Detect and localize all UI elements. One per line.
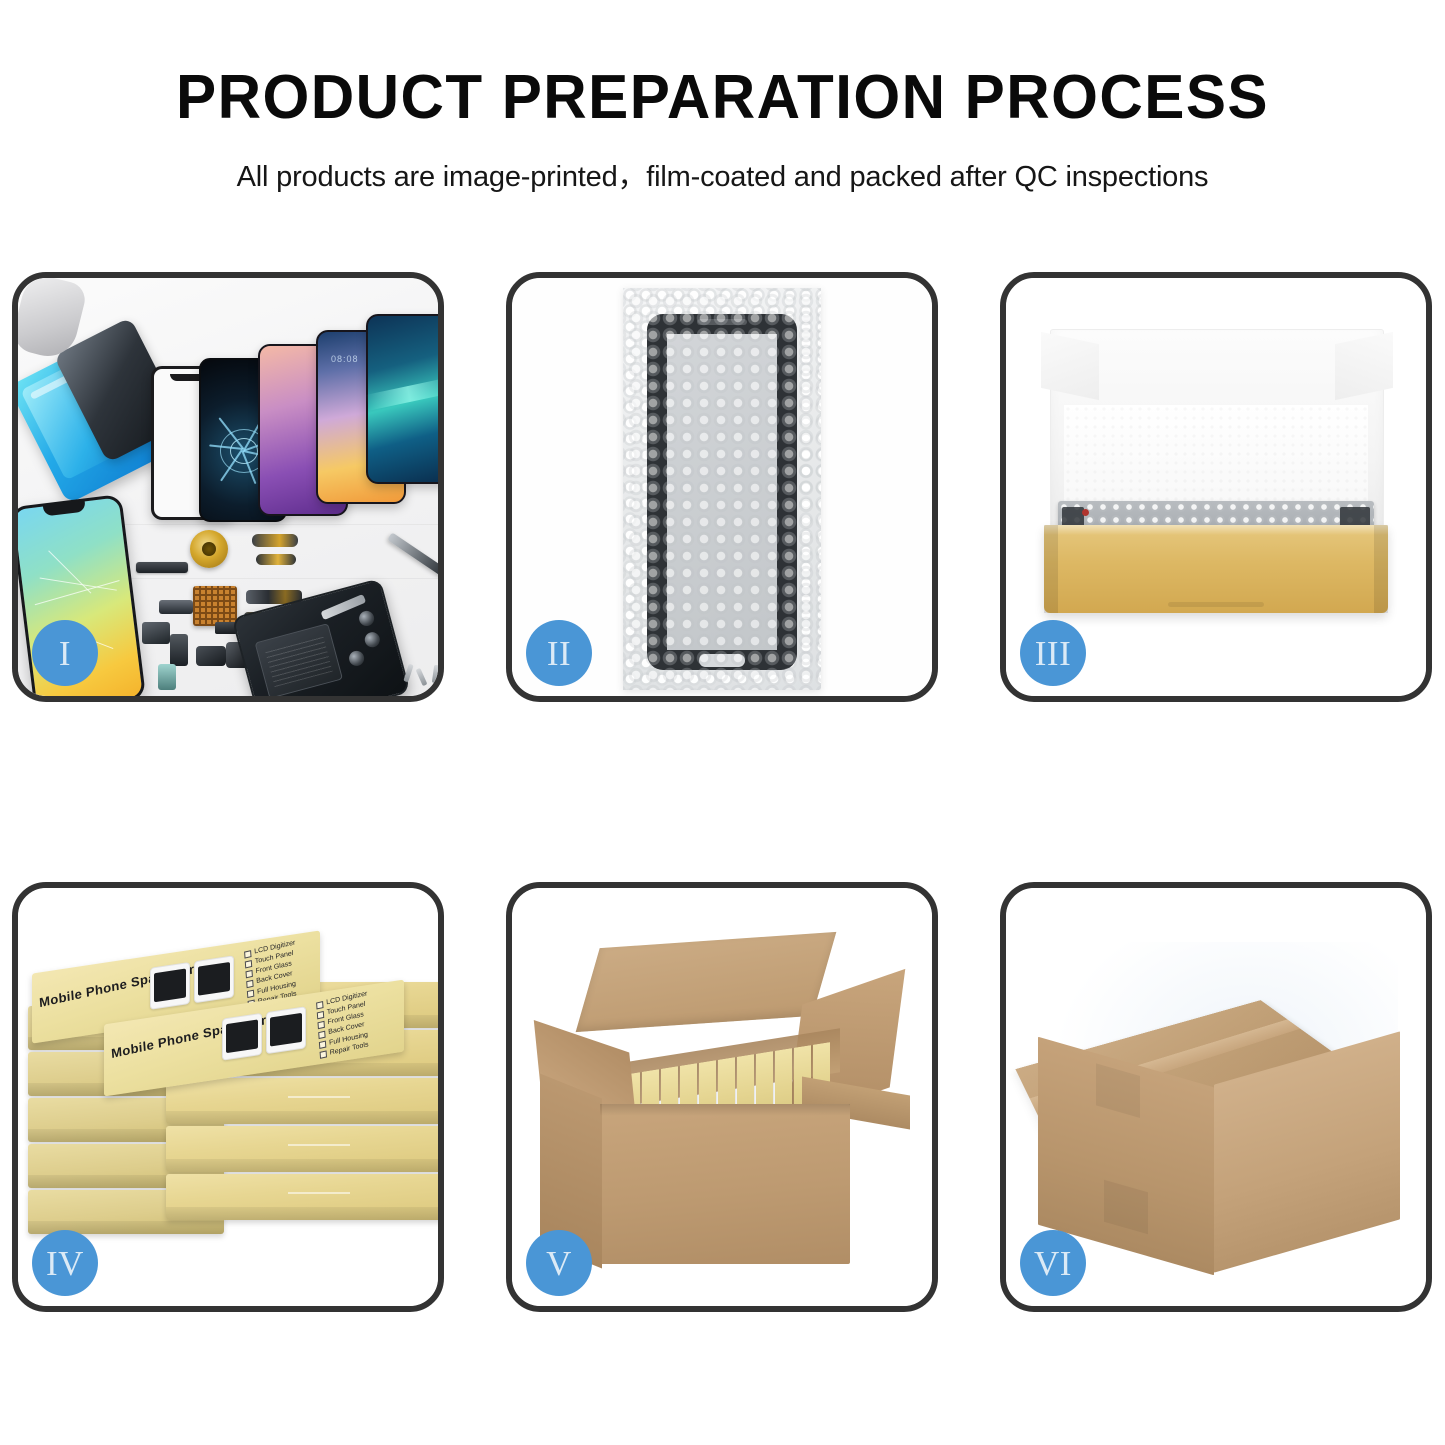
infographic-page: PRODUCT PREPARATION PROCESS All products… <box>0 0 1445 1445</box>
step-card-4: Mobile Phone Spare Parts LCD Digitizer T… <box>12 882 444 1312</box>
step-badge-4: IV <box>32 1230 98 1296</box>
sim-tray-part <box>158 664 176 690</box>
camera-lens-part <box>347 649 365 667</box>
flex-cable-part <box>256 554 296 565</box>
red-label-dot <box>1082 509 1089 516</box>
carton-body <box>600 1104 850 1264</box>
step-card-6: VI <box>1000 882 1432 1312</box>
carton-flap-tab <box>1096 1064 1140 1119</box>
earpiece-speaker-part <box>136 562 188 573</box>
step-badge-3: III <box>1020 620 1086 686</box>
retail-box <box>166 1078 438 1124</box>
earpiece-cutout <box>697 319 747 325</box>
phone-clock-text: 08:08 <box>331 354 359 364</box>
bubble-wrap-sheet <box>623 288 821 690</box>
step-card-2: II <box>506 272 938 702</box>
small-component <box>170 634 188 666</box>
box-screen-image <box>222 1013 262 1061</box>
step-badge-5: V <box>526 1230 592 1296</box>
retail-box <box>166 1126 438 1172</box>
wrapped-screen-part <box>647 314 797 670</box>
step-card-5: V <box>506 882 938 1312</box>
box-notch <box>1168 602 1264 607</box>
step-badge-6: VI <box>1020 1230 1086 1296</box>
box-screen-image <box>194 955 234 1003</box>
page-title: PRODUCT PREPARATION PROCESS <box>22 66 1424 129</box>
carton-flap-back <box>576 931 837 1031</box>
small-component <box>196 646 226 666</box>
step-card-1: 08:08 <box>12 272 444 702</box>
small-component <box>159 600 193 614</box>
camera-lens-part <box>357 609 375 627</box>
step-badge-1: I <box>32 620 98 686</box>
flex-cable-part <box>252 534 298 547</box>
step-card-3: III <box>1000 272 1432 702</box>
open-shipping-carton <box>538 934 906 1286</box>
page-subtitle: All products are image-printed，film-coat… <box>0 153 1445 195</box>
step-badge-2: II <box>526 620 592 686</box>
box-screen-image <box>266 1006 306 1054</box>
camera-lens-part <box>363 631 381 649</box>
ic-chip-part <box>193 586 237 626</box>
header: PRODUCT PREPARATION PROCESS All products… <box>0 0 1445 195</box>
battery-part <box>255 623 343 696</box>
tweezers-tool <box>387 532 438 576</box>
kraft-mailer-box <box>1040 329 1392 661</box>
small-component <box>142 622 170 644</box>
sealed-shipping-carton <box>1020 940 1412 1270</box>
teal-phone-display <box>366 314 438 484</box>
process-step-grid: 08:08 <box>12 272 1433 1432</box>
box-screen-image <box>150 962 190 1010</box>
carton-flap-tab <box>1104 1180 1148 1235</box>
wireless-charging-coil-part <box>190 530 228 568</box>
screws-group <box>406 664 438 686</box>
box-tray-front <box>1044 525 1388 613</box>
retail-box <box>166 1174 438 1220</box>
box-side-left <box>1044 525 1058 613</box>
box-checklist: LCD Digitizer Touch Panel Front Glass Ba… <box>316 989 371 1060</box>
box-side-right <box>1374 525 1388 613</box>
